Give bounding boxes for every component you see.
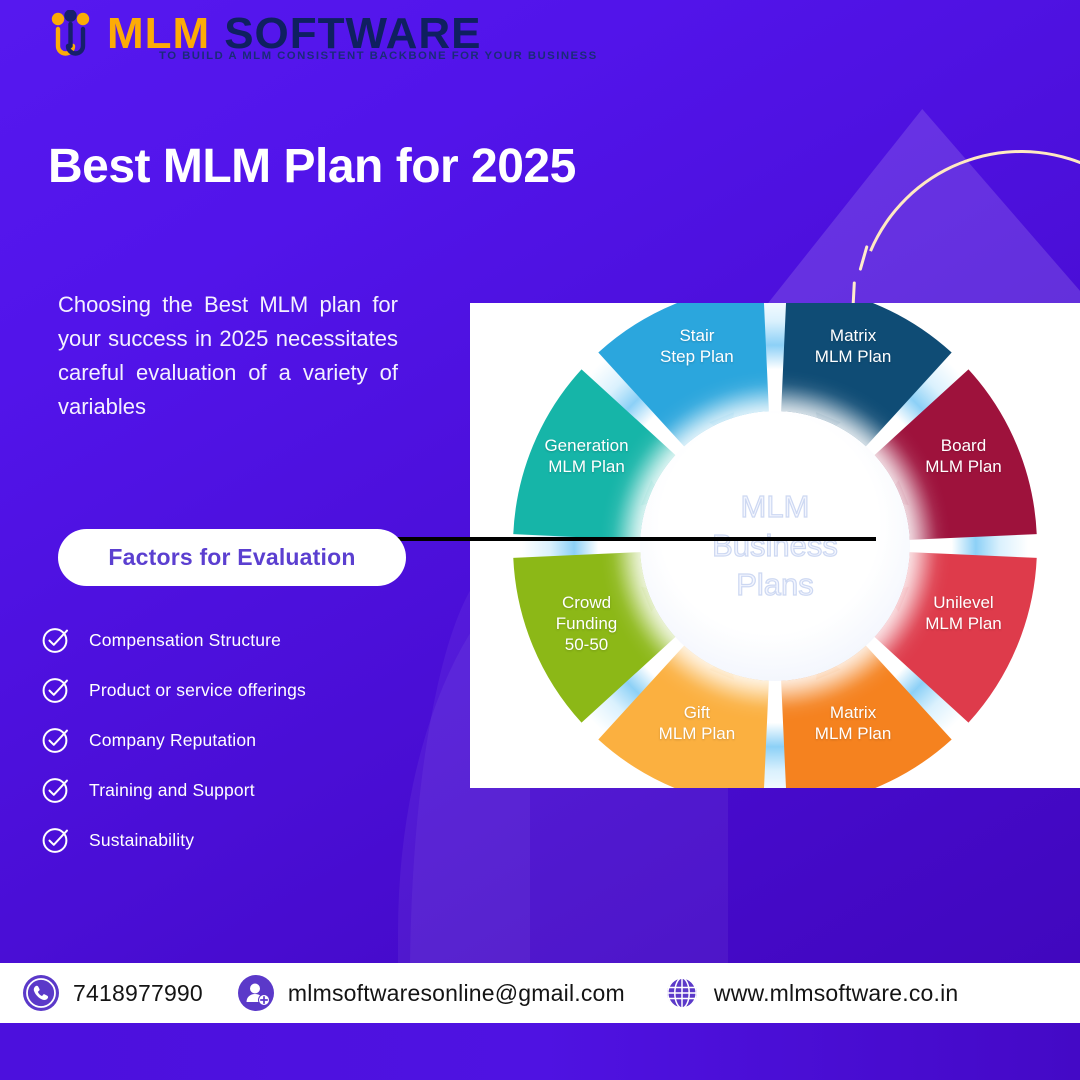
mlm-plans-chart-panel[interactable]: Matrix MLM PlanBoard MLM PlanUnilevel ML… xyxy=(470,303,1080,788)
user-add-icon xyxy=(237,974,275,1012)
checklist-item-label: Training and Support xyxy=(89,780,255,801)
contact-footer: 7418977990 mlmsoftwaresonline@gmail.com xyxy=(0,963,1080,1023)
three-people-icon xyxy=(45,10,97,62)
footer-email[interactable]: mlmsoftwaresonline@gmail.com xyxy=(237,974,625,1012)
footer-website[interactable]: www.mlmsoftware.co.in xyxy=(663,974,958,1012)
checklist-item: Compensation Structure xyxy=(42,615,442,665)
phone-circle-icon xyxy=(22,974,60,1012)
factors-checklist: Compensation StructureProduct or service… xyxy=(42,615,442,865)
check-circle-icon xyxy=(42,676,70,704)
connector-line xyxy=(370,537,876,541)
footer-phone[interactable]: 7418977990 xyxy=(22,974,203,1012)
check-circle-icon xyxy=(42,826,70,854)
factors-badge-label: Factors for Evaluation xyxy=(108,544,355,571)
footer-website-text: www.mlmsoftware.co.in xyxy=(714,980,958,1007)
checklist-item-label: Sustainability xyxy=(89,830,194,851)
checklist-item: Product or service offerings xyxy=(42,665,442,715)
factors-badge[interactable]: Factors for Evaluation xyxy=(58,529,406,586)
globe-icon xyxy=(663,974,701,1012)
checklist-item-label: Compensation Structure xyxy=(89,630,281,651)
check-circle-icon xyxy=(42,726,70,754)
intro-paragraph: Choosing the Best MLM plan for your succ… xyxy=(58,288,398,424)
donut-chart[interactable]: Matrix MLM PlanBoard MLM PlanUnilevel ML… xyxy=(505,303,1045,788)
decorative-tick xyxy=(858,245,868,271)
check-circle-icon xyxy=(42,626,70,654)
footer-email-text: mlmsoftwaresonline@gmail.com xyxy=(288,980,625,1007)
donut-center-label: MLM Business Plans xyxy=(712,487,838,604)
donut-center-hub: MLM Business Plans xyxy=(640,411,910,681)
checklist-item-label: Company Reputation xyxy=(89,730,256,751)
checklist-item-label: Product or service offerings xyxy=(89,680,306,701)
checklist-item: Company Reputation xyxy=(42,715,442,765)
footer-phone-text: 7418977990 xyxy=(73,980,203,1007)
footer-bottom-strip xyxy=(0,1023,1080,1080)
poster-canvas: MLMSOFTWARE TO BUILD A MLM CONSISTENT BA… xyxy=(0,0,1080,1080)
check-circle-icon xyxy=(42,776,70,804)
checklist-item: Sustainability xyxy=(42,815,442,865)
page-title: Best MLM Plan for 2025 xyxy=(48,139,576,194)
brand-header[interactable]: MLMSOFTWARE TO BUILD A MLM CONSISTENT BA… xyxy=(45,8,482,62)
logo-tagline: TO BUILD A MLM CONSISTENT BACKBONE FOR Y… xyxy=(159,50,598,62)
checklist-item: Training and Support xyxy=(42,765,442,815)
